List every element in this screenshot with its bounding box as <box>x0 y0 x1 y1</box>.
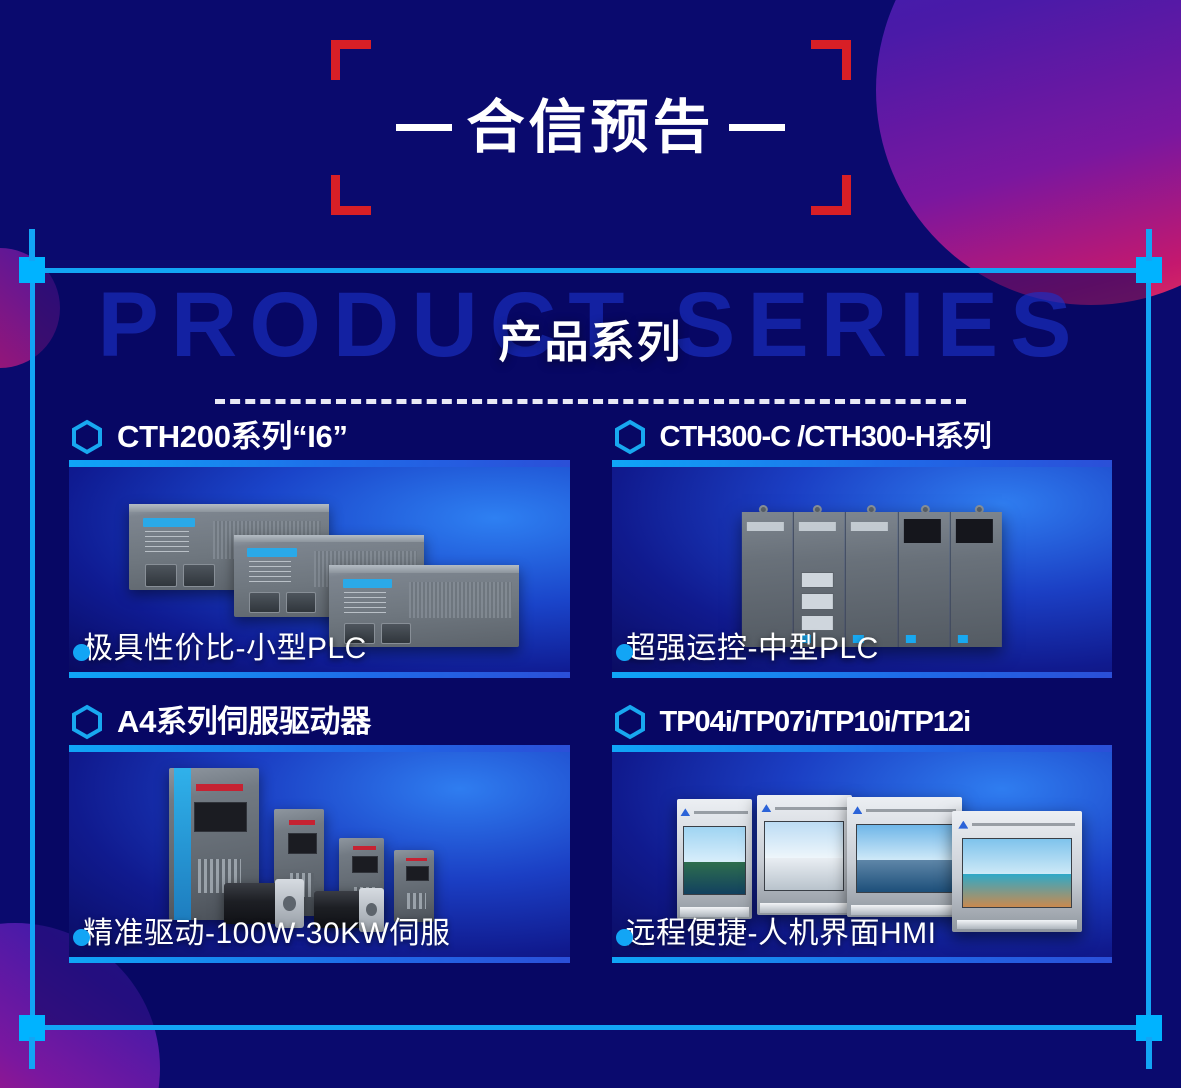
card-underline <box>69 672 570 678</box>
product-image-tp-hmi: 远程便捷-人机界面HMI <box>612 752 1113 957</box>
card-underline <box>612 957 1113 963</box>
section-heading: PRODUCT SERIES 产品系列 <box>35 273 1146 413</box>
card-underline <box>612 672 1113 678</box>
corner-bracket-bottom-right-icon <box>811 175 851 215</box>
product-card-a4servo[interactable]: A4系列伺服驱动器 <box>69 704 570 963</box>
rack-slot-psu <box>742 512 794 647</box>
frame-stub-top-right <box>1146 229 1152 261</box>
product-caption: 精准驱动-100W-30KW伺服 <box>83 919 451 949</box>
product-image-a4servo: 精准驱动-100W-30KW伺服 <box>69 752 570 957</box>
hmi-panel-tp07i <box>757 795 852 915</box>
title-rule <box>69 745 570 752</box>
product-card-cth300[interactable]: CTH300-C /CTH300-H系列 <box>612 419 1113 678</box>
frame-stub-bottom-right <box>1146 1037 1152 1069</box>
rack-slot-io2 <box>898 512 950 647</box>
product-title: A4系列伺服驱动器 <box>117 706 371 739</box>
hmi-panel-tp04i <box>677 799 752 919</box>
rack-slot-cpu <box>794 512 846 647</box>
header-title-row: 合信预告 <box>331 99 851 157</box>
hexagon-icon <box>69 704 105 740</box>
product-caption: 超强运控-中型PLC <box>626 634 879 664</box>
hexagon-icon <box>612 419 648 455</box>
product-title: CTH300-C /CTH300-H系列 <box>660 422 991 452</box>
card-header: TP04i/TP07i/TP10i/TP12i <box>612 704 1113 745</box>
caption-dot-icon <box>616 929 633 946</box>
servo-drive-s <box>394 850 434 922</box>
section-divider <box>215 399 966 404</box>
rack-slot-io3 <box>951 512 1002 647</box>
title-rule <box>612 745 1113 752</box>
rack-slot-io1 <box>846 512 898 647</box>
header-dash-right-icon <box>729 124 785 131</box>
hmi-panel-tp10i <box>847 797 962 917</box>
product-caption: 极具性价比-小型PLC <box>83 634 367 664</box>
corner-bracket-top-left-icon <box>331 40 371 80</box>
product-grid: CTH200系列“I6” <box>35 419 1146 963</box>
header-dash-left-icon <box>396 124 452 131</box>
title-rule <box>612 460 1113 467</box>
page-title: 合信预告 <box>466 99 714 157</box>
hexagon-icon <box>612 704 648 740</box>
caption-dot-icon <box>616 644 633 661</box>
caption-dot-icon <box>73 644 90 661</box>
card-header: A4系列伺服驱动器 <box>69 704 570 745</box>
caption-dot-icon <box>73 929 90 946</box>
frame-stub-bottom-left <box>29 1037 35 1069</box>
product-title: TP04i/TP07i/TP10i/TP12i <box>660 707 971 737</box>
product-image-cth300: 超强运控-中型PLC <box>612 467 1113 672</box>
hmi-panel-tp12i <box>952 811 1082 931</box>
header-bracket-frame: 合信预告 <box>331 40 851 215</box>
card-underline <box>69 957 570 963</box>
card-header: CTH200系列“I6” <box>69 419 570 460</box>
product-card-cth200[interactable]: CTH200系列“I6” <box>69 419 570 678</box>
hexagon-icon <box>69 419 105 455</box>
corner-bracket-bottom-left-icon <box>331 175 371 215</box>
corner-bracket-top-right-icon <box>811 40 851 80</box>
product-caption: 远程便捷-人机界面HMI <box>626 919 937 949</box>
frame-stub-top-left <box>29 229 35 261</box>
product-card-tp-hmi[interactable]: TP04i/TP07i/TP10i/TP12i <box>612 704 1113 963</box>
card-header: CTH300-C /CTH300-H系列 <box>612 419 1113 460</box>
title-rule <box>69 460 570 467</box>
section-title: 产品系列 <box>35 321 1146 365</box>
poster-header: 合信预告 <box>0 0 1181 240</box>
product-title: CTH200系列“I6” <box>117 421 348 454</box>
rack-plc <box>742 512 1002 647</box>
product-series-panel: PRODUCT SERIES 产品系列 CTH200系列“I6” <box>30 268 1151 1030</box>
product-image-cth200: 极具性价比-小型PLC <box>69 467 570 672</box>
